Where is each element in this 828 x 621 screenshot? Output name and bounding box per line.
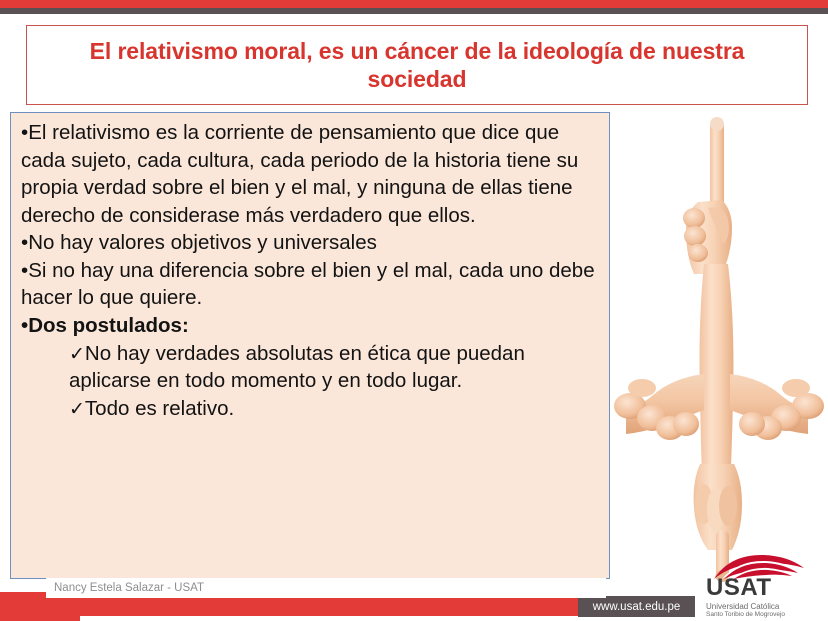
bullet-item-1: •El relativismo es la corriente de pensa… — [21, 119, 599, 229]
bullet-item-3: •Si no hay una diferencia sobre el bien … — [21, 257, 599, 312]
slide-content-box: •El relativismo es la corriente de pensa… — [10, 112, 610, 579]
footer-url-badge[interactable]: www.usat.edu.pe — [578, 596, 695, 617]
check-icon: ✓ — [69, 399, 85, 420]
sub-bullet-text: No hay verdades absolutas en ética que p… — [69, 342, 525, 393]
slide-title: El relativismo moral, es un cáncer de la… — [41, 37, 793, 93]
hands-forming-cross-illustration — [612, 112, 828, 582]
usat-subtitle-1: Universidad Católica — [706, 602, 818, 611]
footer-author: Nancy Estela Salazar - USAT — [46, 578, 606, 598]
footer-url-text: www.usat.edu.pe — [593, 601, 681, 613]
bullet-item-4: •Dos postulados: — [21, 312, 599, 340]
slide-title-box: El relativismo moral, es un cáncer de la… — [26, 25, 808, 105]
bullet-item-2: •No hay valores objetivos y universales — [21, 229, 599, 257]
hands-cross-svg — [612, 112, 828, 582]
check-icon: ✓ — [69, 344, 85, 365]
sub-bullet-item-2: ✓Todo es relativo. — [21, 395, 599, 423]
usat-subtitle-2: Santo Toribio de Mogrovejo — [706, 611, 818, 618]
bullet-text: El relativismo es la corriente de pensam… — [21, 121, 578, 227]
usat-swoosh-icon — [712, 554, 808, 580]
bullet-text: No hay valores objetivos y universales — [28, 231, 377, 254]
sub-bullet-text: Todo es relativo. — [85, 397, 234, 420]
footer-author-text: Nancy Estela Salazar - USAT — [46, 582, 204, 594]
bullet-text: Si no hay una diferencia sobre el bien y… — [21, 259, 595, 310]
sub-bullet-item-1: ✓No hay verdades absolutas en ética que … — [21, 340, 599, 395]
bullet-text: Dos postulados: — [28, 314, 189, 337]
top-gray-bar — [0, 8, 828, 14]
usat-logo: USAT Universidad Católica Santo Toribio … — [706, 556, 818, 614]
top-red-bar — [0, 0, 828, 8]
